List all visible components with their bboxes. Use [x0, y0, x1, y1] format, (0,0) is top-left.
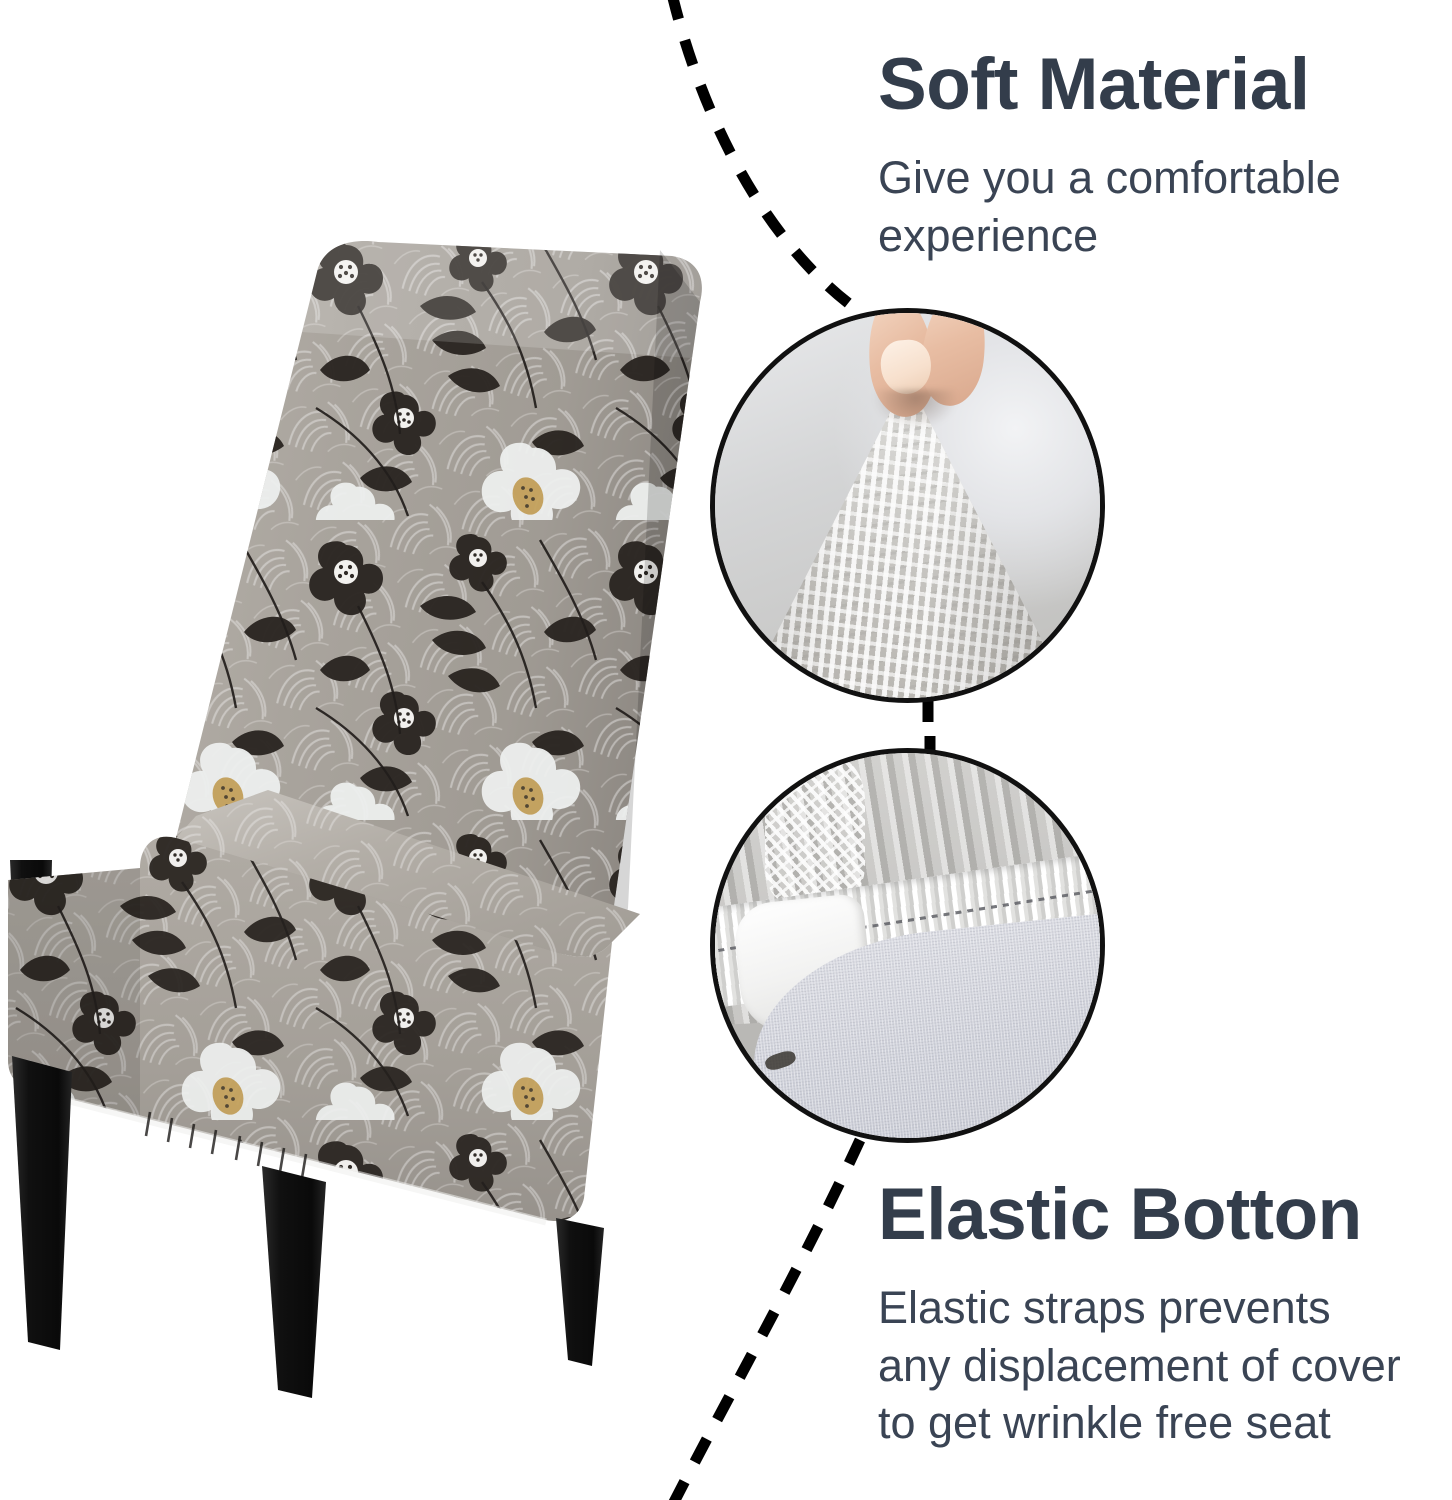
feature-title-soft-material: Soft Material	[878, 48, 1438, 121]
feature-block-soft-material: Soft Material Give you a comfortable exp…	[878, 48, 1438, 264]
infographic-page: Soft Material Give you a comfortable exp…	[0, 0, 1452, 1500]
soft-material-photo-inset	[710, 308, 1105, 703]
feature-body-soft-material: Give you a comfortable experience	[878, 149, 1408, 264]
chair-svg	[0, 220, 720, 1400]
pinched-stretch-fabric-photo	[715, 313, 1100, 698]
chair-illustration	[0, 220, 720, 1400]
elastic-bottom-photo-inset	[710, 748, 1105, 1143]
feature-block-elastic-bottom: Elastic Botton Elastic straps prevents a…	[878, 1178, 1438, 1452]
floral-print-patch	[765, 757, 865, 903]
feature-body-elastic-bottom: Elastic straps prevents any displacement…	[878, 1279, 1408, 1452]
chair-leg-front-center	[262, 1166, 326, 1398]
feature-title-elastic-bottom: Elastic Botton	[878, 1178, 1438, 1251]
chair-leg-front-right	[556, 1218, 604, 1366]
finger-shadow	[873, 390, 958, 429]
elastic-gathered-hem-photo	[715, 753, 1100, 1138]
chair-leg-front-left	[12, 1056, 72, 1350]
